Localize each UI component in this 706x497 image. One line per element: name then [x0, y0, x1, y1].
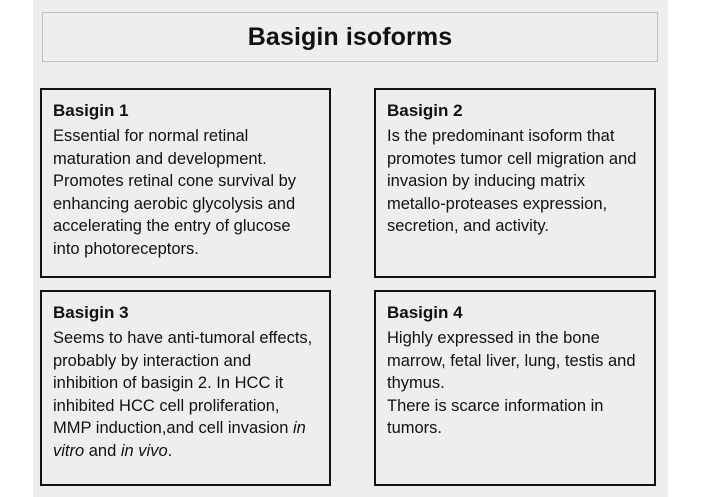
card-heading-basigin-3: Basigin 3 [53, 302, 318, 323]
page-title: Basigin isoforms [248, 25, 452, 50]
card-body-basigin-1: Essential for normal retinal maturation … [53, 125, 318, 260]
card-body-basigin-3-italic-in-vivo: in vivo [121, 442, 168, 460]
card-basigin-4: Basigin 4 Highly expressed in the bone m… [374, 290, 656, 486]
card-body-basigin-3-segment-1: Seems to have anti-tumoral effects, prob… [53, 329, 312, 437]
card-body-basigin-3-segment-2: and [84, 442, 121, 460]
card-body-basigin-3: Seems to have anti-tumoral effects, prob… [53, 327, 318, 462]
card-body-basigin-3-segment-3: . [168, 442, 173, 460]
card-basigin-3: Basigin 3 Seems to have anti-tumoral eff… [40, 290, 331, 486]
figure-panel: Basigin isoforms Basigin 1 Essential for… [33, 0, 668, 497]
card-heading-basigin-1: Basigin 1 [53, 100, 318, 121]
card-heading-basigin-2: Basigin 2 [387, 100, 643, 121]
card-basigin-1: Basigin 1 Essential for normal retinal m… [40, 88, 331, 278]
card-heading-basigin-4: Basigin 4 [387, 302, 643, 323]
figure-title-box: Basigin isoforms [42, 12, 658, 62]
card-basigin-2: Basigin 2 Is the predominant isoform tha… [374, 88, 656, 278]
card-body-basigin-2: Is the predominant isoform that promotes… [387, 125, 643, 238]
card-body-basigin-4: Highly expressed in the bone marrow, fet… [387, 327, 643, 440]
